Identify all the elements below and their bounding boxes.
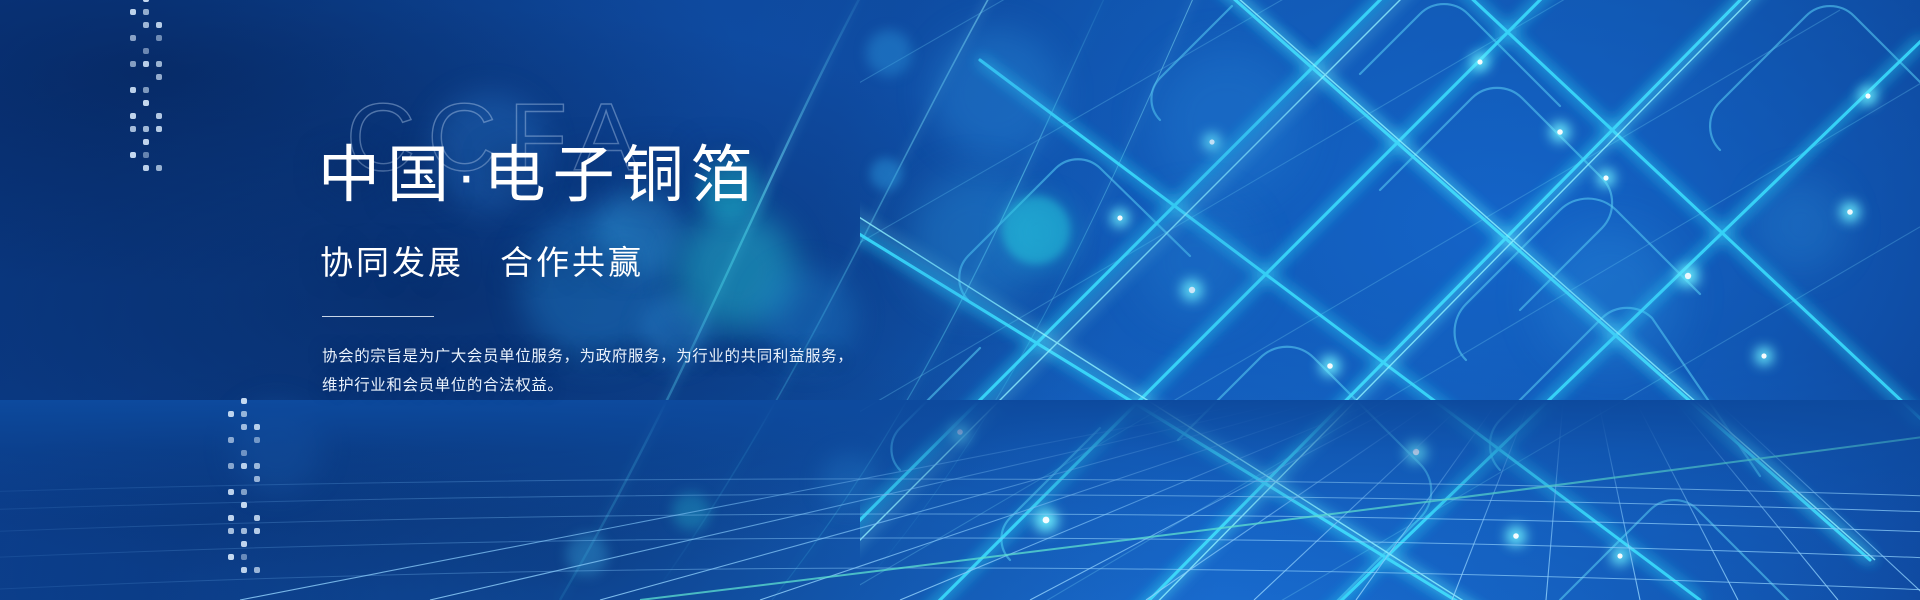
decor-dot	[228, 437, 234, 443]
decor-dot	[130, 152, 136, 158]
description-line-2: 维护行业和会员单位的合法权益。	[322, 372, 1098, 401]
decor-dot	[254, 437, 260, 443]
decor-dot	[228, 489, 234, 495]
decor-dot	[156, 165, 162, 171]
decor-dot	[241, 463, 247, 469]
decor-dot	[143, 87, 149, 93]
decor-dot	[254, 515, 260, 521]
page-subtitle: 协同发展 合作共赢	[320, 236, 1098, 284]
hero-banner: CCFA 中国·电子铜箔 协同发展 合作共赢 协会的宗旨是为广大会员单位服务，为…	[0, 0, 1920, 600]
decor-dot	[241, 411, 247, 417]
decor-dot	[143, 165, 149, 171]
decor-dot	[254, 424, 260, 430]
bokeh-circle	[866, 30, 912, 76]
description-text: 协会的宗旨是为广大会员单位服务，为政府服务，为行业的共同利益服务， 维护行业和会…	[322, 343, 1098, 400]
bokeh-circle	[1756, 180, 1846, 270]
decor-dot	[130, 126, 136, 132]
decor-dot	[156, 113, 162, 119]
decor-dot	[241, 502, 247, 508]
decor-dot	[241, 528, 247, 534]
decor-dot	[143, 152, 149, 158]
decor-dot	[143, 48, 149, 54]
decor-dot	[254, 463, 260, 469]
hero-content: CCFA 中国·电子铜箔 协同发展 合作共赢 协会的宗旨是为广大会员单位服务，为…	[318, 96, 1098, 401]
decor-dot	[241, 450, 247, 456]
decor-dot	[156, 126, 162, 132]
decor-dot	[143, 100, 149, 106]
bokeh-circle	[232, 402, 322, 492]
decor-dot	[130, 61, 136, 67]
decor-dot	[254, 528, 260, 534]
page-title: 中国·电子铜箔	[318, 96, 1098, 210]
decor-dot	[130, 35, 136, 41]
decor-dot	[228, 463, 234, 469]
decor-dot	[130, 113, 136, 119]
divider-rule	[322, 316, 434, 317]
decor-dot	[228, 528, 234, 534]
decor-dot	[254, 476, 260, 482]
decor-dot	[241, 567, 247, 573]
decor-dot	[254, 567, 260, 573]
bokeh-circle	[566, 534, 608, 576]
decor-dot	[241, 554, 247, 560]
decor-dot	[228, 515, 234, 521]
decor-dot	[143, 9, 149, 15]
decor-dot	[241, 489, 247, 495]
decor-dot	[228, 411, 234, 417]
decor-dot	[143, 0, 149, 2]
bokeh-circle	[1152, 48, 1302, 198]
bokeh-circle	[672, 492, 710, 530]
decor-dot	[156, 74, 162, 80]
decor-dot	[130, 9, 136, 15]
bokeh-circle	[820, 452, 878, 510]
decor-dot	[130, 87, 136, 93]
bokeh-circle	[1136, 200, 1256, 320]
decor-dot	[156, 35, 162, 41]
decor-dot	[241, 398, 247, 404]
decor-dot	[228, 554, 234, 560]
decor-dot	[156, 22, 162, 28]
bottom-left-dot-column	[228, 398, 267, 580]
decor-dot	[241, 424, 247, 430]
decor-dot	[143, 139, 149, 145]
decor-dot	[156, 61, 162, 67]
perspective-grid	[0, 400, 1920, 600]
decor-dot	[241, 541, 247, 547]
decor-dot	[143, 61, 149, 67]
top-left-dot-column	[130, 0, 169, 178]
description-line-1: 协会的宗旨是为广大会员单位服务，为政府服务，为行业的共同利益服务，	[322, 343, 1098, 372]
decor-dot	[143, 126, 149, 132]
bokeh-circle	[1540, 226, 1680, 366]
decor-dot	[143, 22, 149, 28]
